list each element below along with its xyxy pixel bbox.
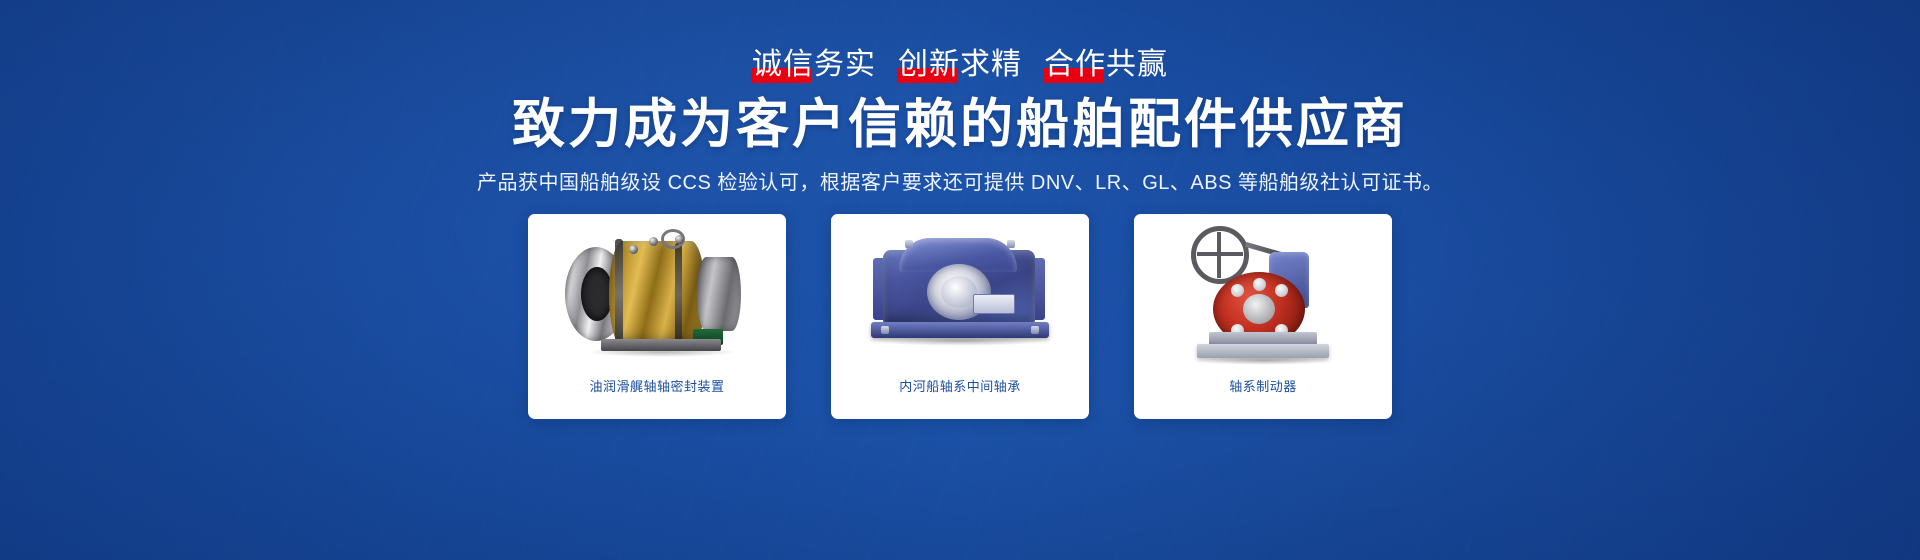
slogan-group-3: 合作共赢 <box>1044 50 1168 80</box>
product-card-caption: 油润滑艉轴轴密封装置 <box>528 374 786 419</box>
company-slogan: 诚信务实 创新求精 合作共赢 <box>752 50 1168 80</box>
shafting-brake-image <box>1134 214 1392 374</box>
slogan-text-1: 诚信务实 <box>752 48 876 81</box>
product-card[interactable]: 内河船轴系中间轴承 <box>831 214 1089 419</box>
product-card-list: 油润滑艉轴轴密封装置 <box>528 214 1392 419</box>
hero-banner: 诚信务实 创新求精 合作共赢 致力成为客户信赖的船舶配件供应商 产品获中国船舶级… <box>0 0 1920 560</box>
oil-lubricated-stern-tube-seal-image <box>528 214 786 374</box>
slogan-text-2: 创新求精 <box>898 48 1022 81</box>
inland-river-shafting-intermediate-bearing-image <box>831 214 1089 374</box>
slogan-text-3: 合作共赢 <box>1044 48 1168 81</box>
product-card-caption: 轴系制动器 <box>1134 374 1392 419</box>
hero-content: 诚信务实 创新求精 合作共赢 致力成为客户信赖的船舶配件供应商 产品获中国船舶级… <box>0 0 1920 560</box>
banner-headline: 致力成为客户信赖的船舶配件供应商 <box>512 96 1408 154</box>
product-card-caption: 内河船轴系中间轴承 <box>831 374 1089 419</box>
product-card[interactable]: 轴系制动器 <box>1134 214 1392 419</box>
slogan-group-1: 诚信务实 <box>752 50 876 80</box>
product-card[interactable]: 油润滑艉轴轴密封装置 <box>528 214 786 419</box>
banner-subtitle: 产品获中国船舶级设 CCS 检验认可，根据客户要求还可提供 DNV、LR、GL、… <box>477 170 1443 196</box>
slogan-group-2: 创新求精 <box>898 50 1022 80</box>
